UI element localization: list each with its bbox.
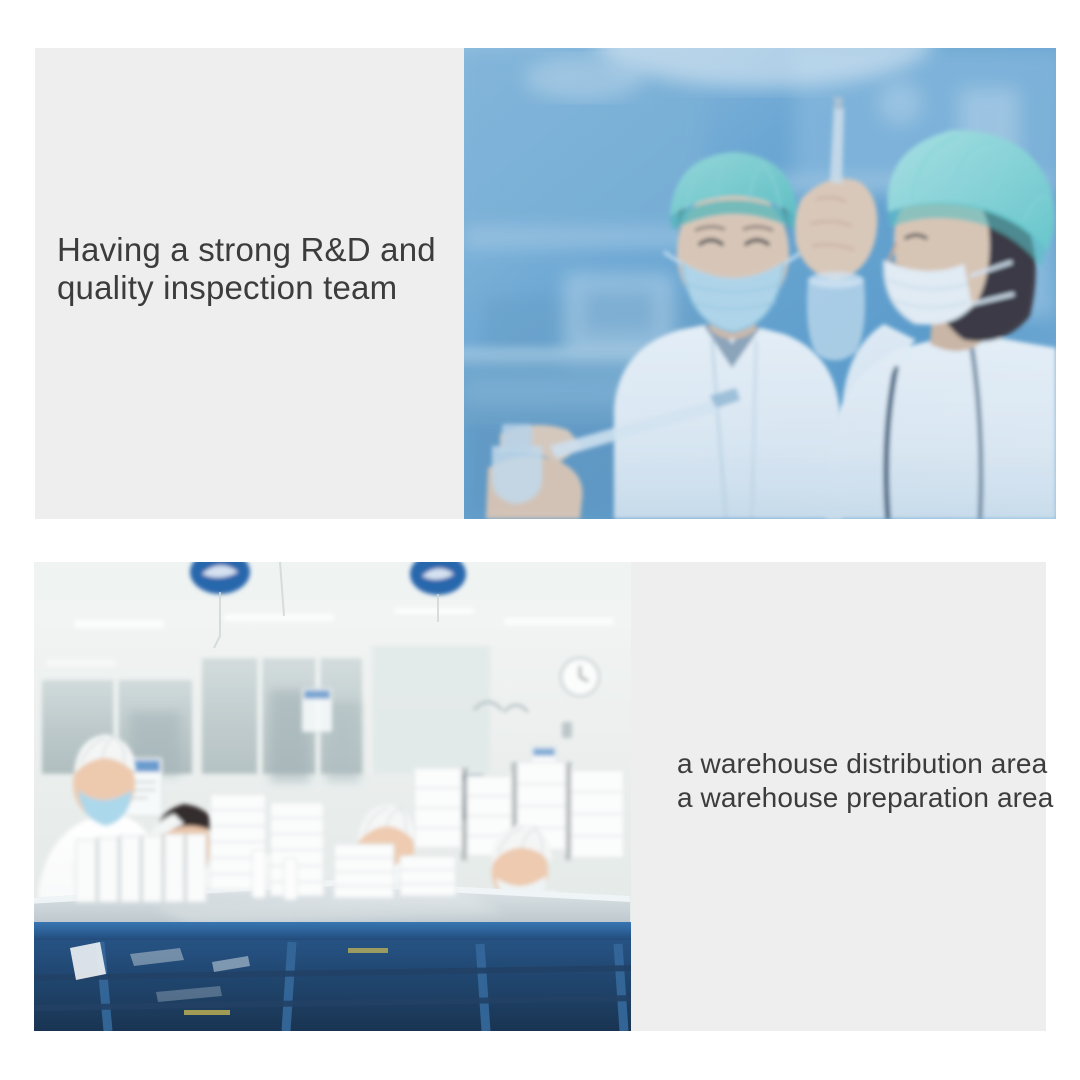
section-warehouse: a warehouse distribution area a warehous… (34, 562, 1046, 1031)
caption-panel-bottom: a warehouse distribution area a warehous… (631, 562, 1046, 1031)
caption-line-2: a warehouse preparation area (677, 781, 1037, 815)
photo-warehouse-packing (34, 562, 631, 1031)
caption-line-1: Having a strong R&D and (57, 231, 457, 269)
poster-canvas: Having a strong R&D and quality inspecti… (0, 0, 1080, 1080)
caption-line-2: quality inspection team (57, 269, 457, 307)
caption-line-1: a warehouse distribution area (677, 747, 1037, 781)
caption-research-quality: Having a strong R&D and quality inspecti… (57, 231, 457, 307)
photo-lab-inspection (464, 48, 1056, 519)
caption-warehouse: a warehouse distribution area a warehous… (677, 747, 1037, 815)
photo-warehouse-artwork (34, 562, 631, 1031)
section-research-quality: Having a strong R&D and quality inspecti… (35, 48, 1056, 519)
caption-panel-top: Having a strong R&D and quality inspecti… (35, 48, 464, 519)
photo-lab-artwork (464, 48, 1056, 519)
